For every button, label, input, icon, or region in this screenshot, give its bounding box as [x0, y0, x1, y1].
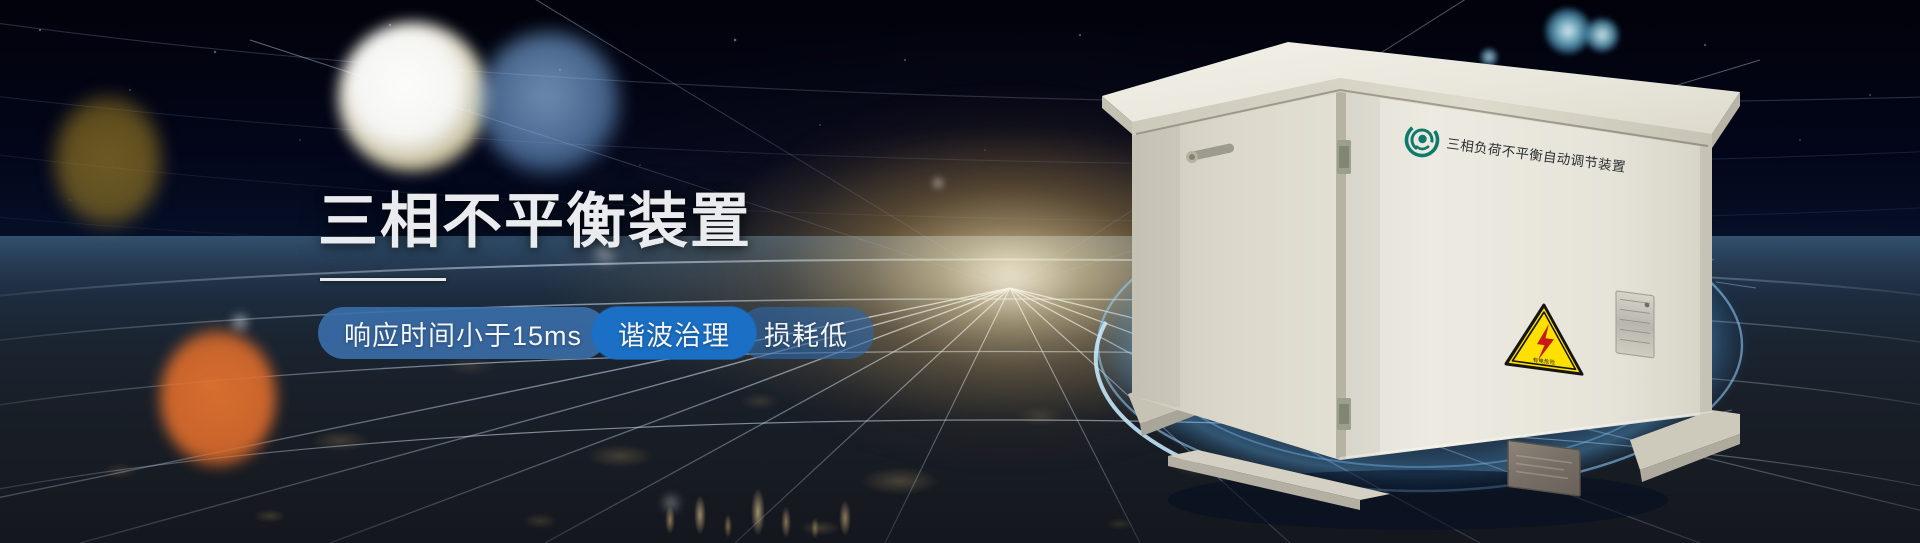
hero-banner: 三相负荷不平衡自动调节装置 有电危险	[0, 0, 1920, 543]
three-phase-unbalance-cabinet: 三相负荷不平衡自动调节装置 有电危险	[1040, 0, 1920, 543]
product-stage: 三相负荷不平衡自动调节装置 有电危险	[1040, 0, 1920, 543]
title-divider	[320, 278, 446, 281]
banner-copy: 三相不平衡装置 响应时间小于15ms 谐波治理 损耗低	[318, 192, 1018, 359]
vent-louver	[1616, 291, 1654, 358]
feature-tag-list: 响应时间小于15ms 谐波治理 损耗低	[318, 307, 1018, 359]
nameplate	[1508, 440, 1580, 496]
feature-tag-low-loss[interactable]: 损耗低	[738, 307, 874, 359]
page-title: 三相不平衡装置	[318, 192, 1018, 252]
feature-tag-response-time[interactable]: 响应时间小于15ms	[318, 307, 608, 359]
feature-tag-harmonic-treatment[interactable]: 谐波治理	[592, 307, 756, 359]
